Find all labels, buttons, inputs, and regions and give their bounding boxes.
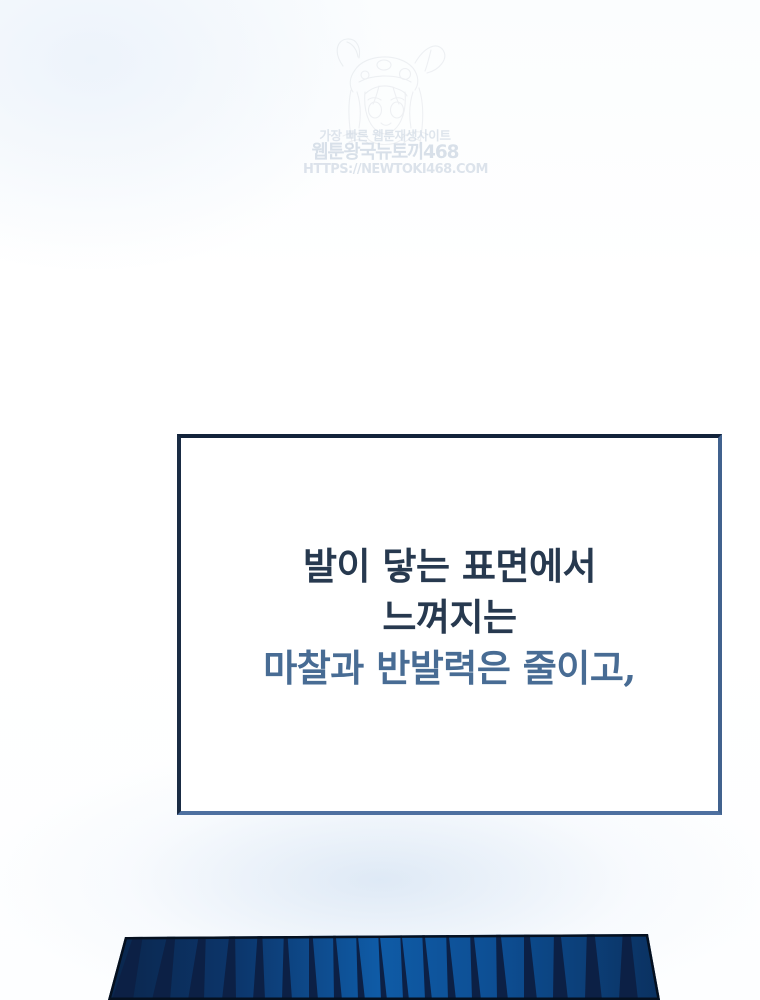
speed-lines-group xyxy=(90,928,690,1000)
watermark-text-block: 가장 빠른 웹툰재생사이트 웹툰왕국뉴토끼468 HTTPS://NEWTOKI… xyxy=(303,130,467,176)
caption-line-1: 발이 닿는 표면에서 xyxy=(181,541,718,592)
site-watermark: 가장 빠른 웹툰재생사이트 웹툰왕국뉴토끼468 HTTPS://NEWTOKI… xyxy=(303,30,467,198)
speed-lines-panel xyxy=(0,928,760,1000)
caption-line-2: 느껴지는 xyxy=(181,592,718,643)
caption-line-3: 마찰과 반발력은 줄이고, xyxy=(181,643,718,694)
comic-page: 가장 빠른 웹툰재생사이트 웹툰왕국뉴토끼468 HTTPS://NEWTOKI… xyxy=(0,0,760,1000)
bunny-girl-mascot-icon xyxy=(303,30,467,150)
caption-text-block: 발이 닿는 표면에서 느껴지는 마찰과 반발력은 줄이고, xyxy=(181,541,718,708)
watermark-tagline: 가장 빠른 웹툰재생사이트 xyxy=(303,130,467,143)
watermark-site-name: 웹툰왕국뉴토끼468 xyxy=(303,144,467,163)
dialogue-caption-box: 발이 닿는 표면에서 느껴지는 마찰과 반발력은 줄이고, xyxy=(177,434,722,815)
watermark-url: HTTPS://NEWTOKI468.COM xyxy=(303,163,467,176)
